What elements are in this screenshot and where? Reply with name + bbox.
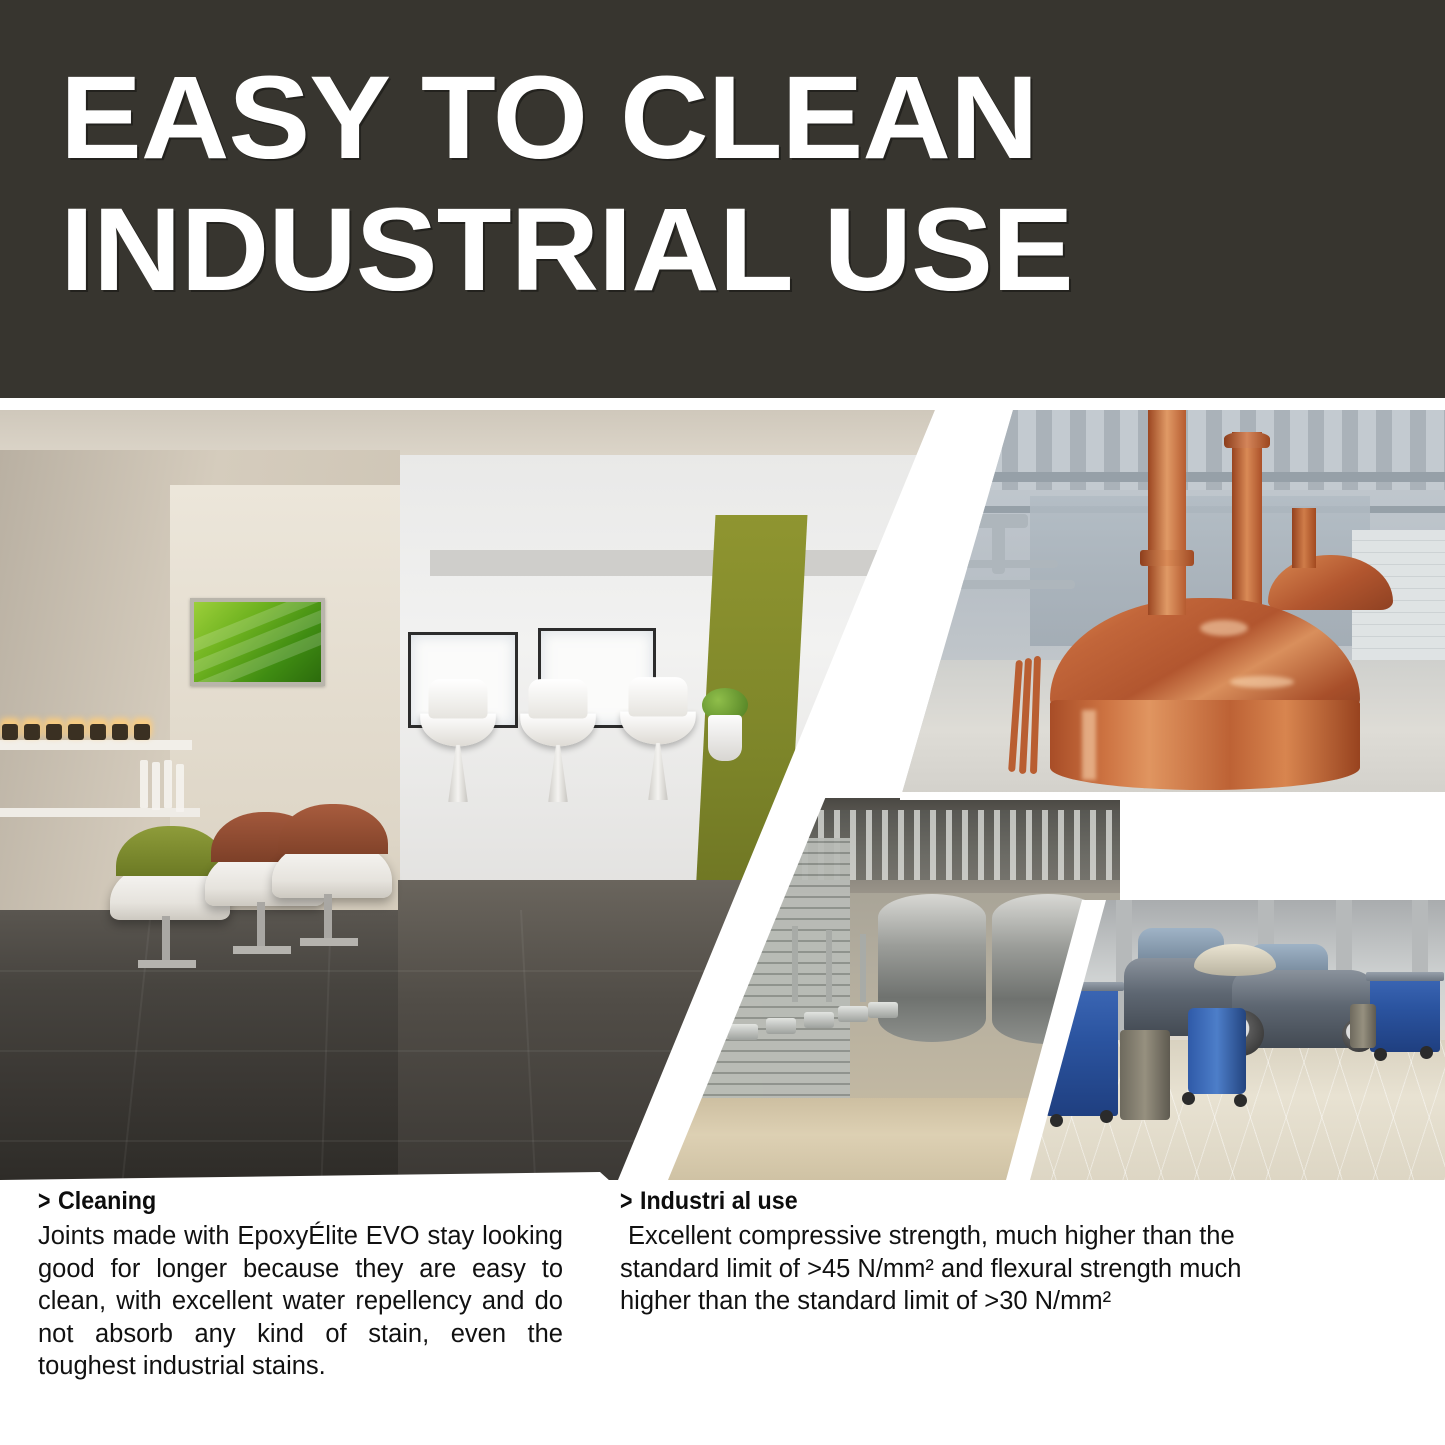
cleaning-heading: >Cleaning (38, 1186, 568, 1216)
banner-title-group: EASY TO CLEAN INDUSTRIAL USE (60, 52, 1390, 316)
chevron-right-icon: > (38, 1184, 50, 1218)
collage-image-brewery-kettle (900, 410, 1445, 800)
banner-title-line-1: EASY TO CLEAN (60, 52, 1443, 184)
header-banner: EASY TO CLEAN INDUSTRIAL USE (0, 0, 1445, 398)
industrial-use-heading-label: Industri al use (640, 1186, 798, 1216)
collage-image-auto-garage (1020, 900, 1445, 1180)
product-feature-panel: EASY TO CLEAN INDUSTRIAL USE (0, 0, 1445, 1445)
industrial-use-body-line-1: Excellent compressive strength, much hig… (620, 1220, 1402, 1253)
image-collage (0, 410, 1445, 1180)
section-industrial-use: >Industri al use Excellent compressive s… (620, 1186, 1410, 1318)
industrial-use-body-line-3: higher than the standard limit of >30 N/… (620, 1285, 1402, 1318)
banner-title-line-2: INDUSTRIAL USE (60, 184, 1443, 316)
cleaning-body-text: Joints made with EpoxyÉlite EVO stay loo… (38, 1220, 563, 1383)
industrial-use-heading: >Industri al use (620, 1186, 1410, 1216)
cleaning-heading-label: Cleaning (58, 1186, 156, 1216)
feature-text-area: >Cleaning Joints made with EpoxyÉlite EV… (0, 1186, 1445, 1445)
chevron-right-icon: > (620, 1184, 632, 1218)
industrial-use-body-line-2: standard limit of >45 N/mm² and flexural… (620, 1253, 1402, 1286)
wall-art-frame (190, 598, 325, 686)
section-cleaning: >Cleaning Joints made with EpoxyÉlite EV… (38, 1186, 568, 1383)
